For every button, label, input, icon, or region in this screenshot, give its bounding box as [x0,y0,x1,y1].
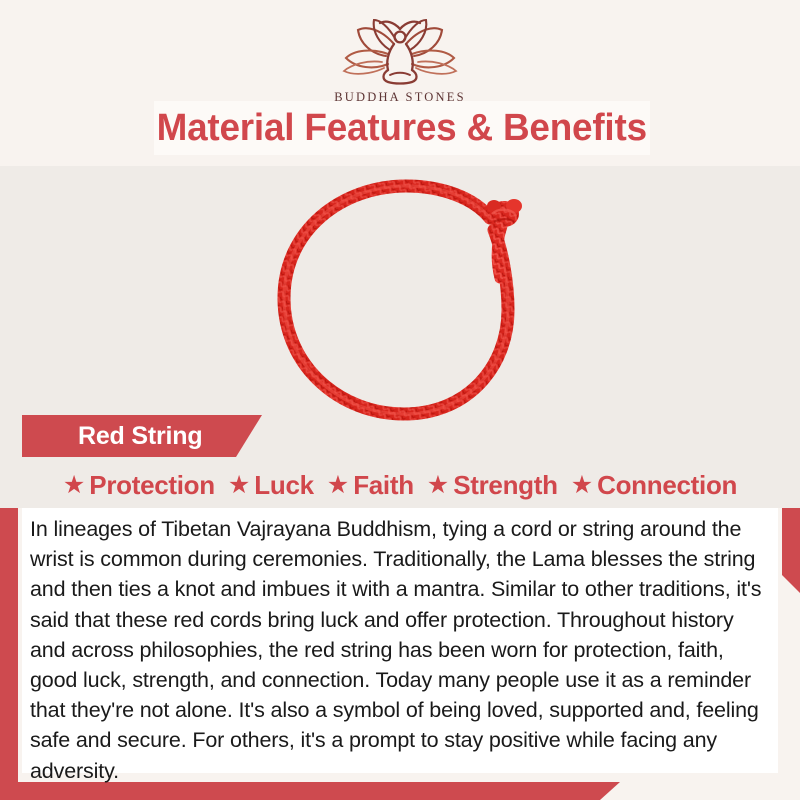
benefit-label: Faith [353,470,414,501]
benefit-label: Connection [597,470,737,501]
red-string-bracelet-image [246,170,556,430]
star-icon: ★ [427,473,449,498]
star-icon: ★ [571,473,593,498]
benefit-item: ★ Protection [63,470,215,501]
lotus-meditation-icon [330,14,470,88]
star-icon: ★ [63,473,85,498]
description-panel: In lineages of Tibetan Vajrayana Buddhis… [22,508,778,773]
description-text: In lineages of Tibetan Vajrayana Buddhis… [30,514,768,786]
benefit-item: ★ Strength [427,470,558,501]
star-icon: ★ [327,473,349,498]
benefit-label: Luck [254,470,313,501]
benefit-item: ★ Connection [571,470,737,501]
infographic-page: BUDDHA STONES Material Features & Benefi… [0,0,800,800]
product-name-ribbon: Red String [22,415,262,457]
benefits-row: ★ Protection ★ Luck ★ Faith ★ Strength ★… [0,466,800,504]
brand-logo: BUDDHA STONES [0,14,800,105]
page-title-box: Material Features & Benefits [154,101,650,155]
benefit-label: Protection [89,470,215,501]
benefit-label: Strength [453,470,557,501]
benefit-item: ★ Luck [228,470,314,501]
page-title: Material Features & Benefits [157,107,647,150]
benefit-item: ★ Faith [327,470,414,501]
product-name-label: Red String [78,422,202,451]
star-icon: ★ [228,473,250,498]
